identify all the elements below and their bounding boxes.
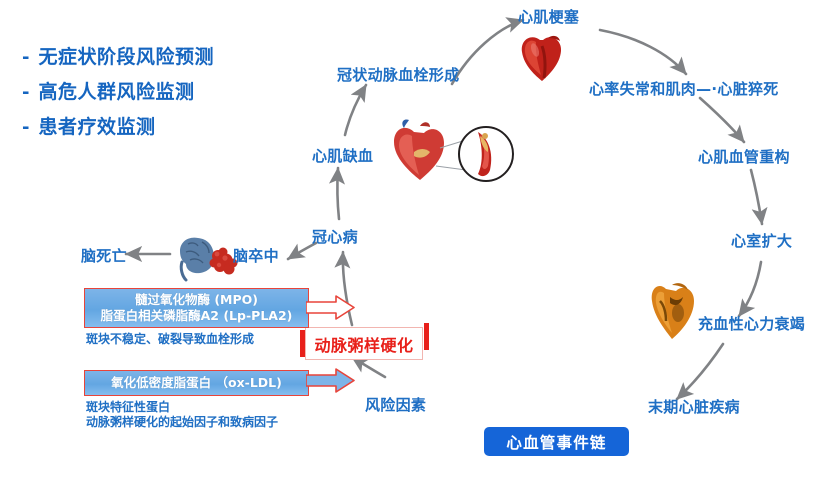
node-coronary-heart-disease: 冠心病 xyxy=(312,226,358,247)
heart-artery-plaque-icon xyxy=(394,119,513,181)
brain-icon xyxy=(180,238,238,280)
cardiovascular-chain-badge: 心血管事件链 xyxy=(484,427,629,456)
node-coronary-thrombosis: 冠状动脉血栓形成 xyxy=(337,64,459,85)
atherosclerosis-text: 动脉粥样硬化 xyxy=(314,332,413,356)
orange-heart-icon xyxy=(652,283,694,339)
bullet-marker: - xyxy=(22,119,29,137)
bullet-marker: - xyxy=(22,49,29,67)
marker-line: 髓过氧化物酶 (MPO) xyxy=(135,292,258,309)
marker-line: 脂蛋白相关磷脂酶A2 (Lp-PLA2) xyxy=(101,308,293,325)
node-congestive-heart-failure: 充血性心力衰竭 xyxy=(698,313,805,334)
node-end-stage-heart-disease: 末期心脏疾病 xyxy=(648,396,740,417)
chain-badge-text: 心血管事件链 xyxy=(506,431,606,453)
list-item: - 患者疗效监测 xyxy=(22,112,302,139)
node-stroke: 脑卒中 xyxy=(233,245,279,266)
node-arrhythmia-sudden-death: 心率失常和肌肉—·心脏猝死 xyxy=(589,78,779,99)
node-brain-death: 脑死亡 xyxy=(81,245,127,266)
marker-box-mpo-lppla2: 髓过氧化物酶 (MPO) 脂蛋白相关磷脂酶A2 (Lp-PLA2) xyxy=(84,288,309,328)
marker-box-ox-ldl: 氧化低密度脂蛋白 （ox-LDL) xyxy=(84,370,309,396)
node-myocardial-ischemia: 心肌缺血 xyxy=(312,145,373,166)
node-myocardial-remodeling: 心肌血管重构 xyxy=(698,146,790,167)
bracket-right xyxy=(424,323,429,350)
red-heart-icon xyxy=(522,36,561,81)
marker-caption-oxldl-2: 动脉粥样硬化的起始因子和致病因子 xyxy=(86,414,278,431)
marker-arrow-mpo xyxy=(306,293,360,325)
list-item: - 高危人群风险监测 xyxy=(22,77,302,104)
list-item: - 无症状阶段风险预测 xyxy=(22,42,302,69)
bullet-label: 患者疗效监测 xyxy=(38,112,155,139)
diagram-canvas: - 无症状阶段风险预测 - 高危人群风险监测 - 患者疗效监测 心肌梗塞 冠状动… xyxy=(0,0,831,478)
atherosclerosis-label: 动脉粥样硬化 xyxy=(305,327,423,360)
key-points-list: - 无症状阶段风险预测 - 高危人群风险监测 - 患者疗效监测 xyxy=(22,42,302,147)
bullet-label: 无症状阶段风险预测 xyxy=(38,42,214,69)
node-ventricular-enlargement: 心室扩大 xyxy=(731,230,792,251)
marker-caption-mpo: 斑块不稳定、破裂导致血栓形成 xyxy=(86,331,254,348)
node-risk-factors: 风险因素 xyxy=(365,394,426,415)
bullet-marker: - xyxy=(22,84,29,102)
node-myocardial-infarction: 心肌梗塞 xyxy=(518,6,579,27)
bullet-label: 高危人群风险监测 xyxy=(38,77,194,104)
marker-arrow-oxldl xyxy=(306,368,360,400)
marker-line: 氧化低密度脂蛋白 （ox-LDL) xyxy=(111,375,282,392)
